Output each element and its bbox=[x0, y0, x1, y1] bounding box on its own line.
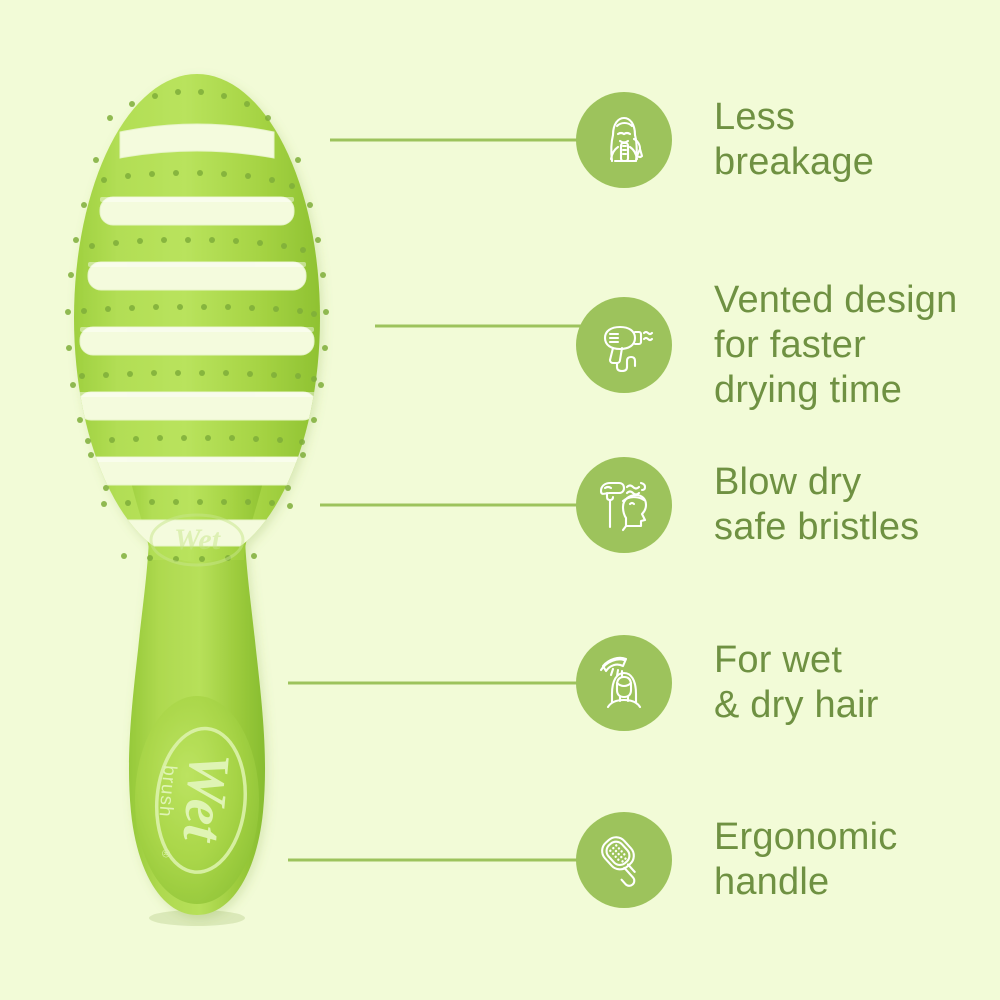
feature-item-less-breakage[interactable]: Less breakage bbox=[576, 92, 874, 188]
paddle-brush-icon bbox=[593, 829, 655, 891]
feature-label: Ergonomic handle bbox=[714, 815, 897, 905]
feature-label: Vented design for faster drying time bbox=[714, 278, 957, 412]
woman-brushing-hair-icon bbox=[593, 109, 655, 171]
feature-item-blow-dry-safe-bristles[interactable]: Blow dry safe bristles bbox=[576, 457, 919, 553]
feature-icon-circle bbox=[576, 635, 672, 731]
shower-head-woman-icon bbox=[593, 652, 655, 714]
feature-item-for-wet-and-dry-hair[interactable]: For wet & dry hair bbox=[576, 635, 879, 731]
feature-item-ergonomic-handle[interactable]: Ergonomic handle bbox=[576, 812, 897, 908]
feature-item-vented-design[interactable]: Vented design for faster drying time bbox=[576, 278, 957, 412]
blow-dry-face-icon bbox=[593, 474, 655, 536]
infographic-canvas: Wet Wet brush ® bbox=[0, 0, 1000, 1000]
feature-label: Less breakage bbox=[714, 95, 874, 185]
feature-icon-circle bbox=[576, 812, 672, 908]
feature-icon-circle bbox=[576, 457, 672, 553]
feature-list: Less breakage Vented design for faster d… bbox=[0, 0, 1000, 1000]
feature-label: For wet & dry hair bbox=[714, 638, 879, 728]
hair-dryer-icon bbox=[593, 314, 655, 376]
feature-icon-circle bbox=[576, 297, 672, 393]
feature-label: Blow dry safe bristles bbox=[714, 460, 919, 550]
feature-icon-circle bbox=[576, 92, 672, 188]
